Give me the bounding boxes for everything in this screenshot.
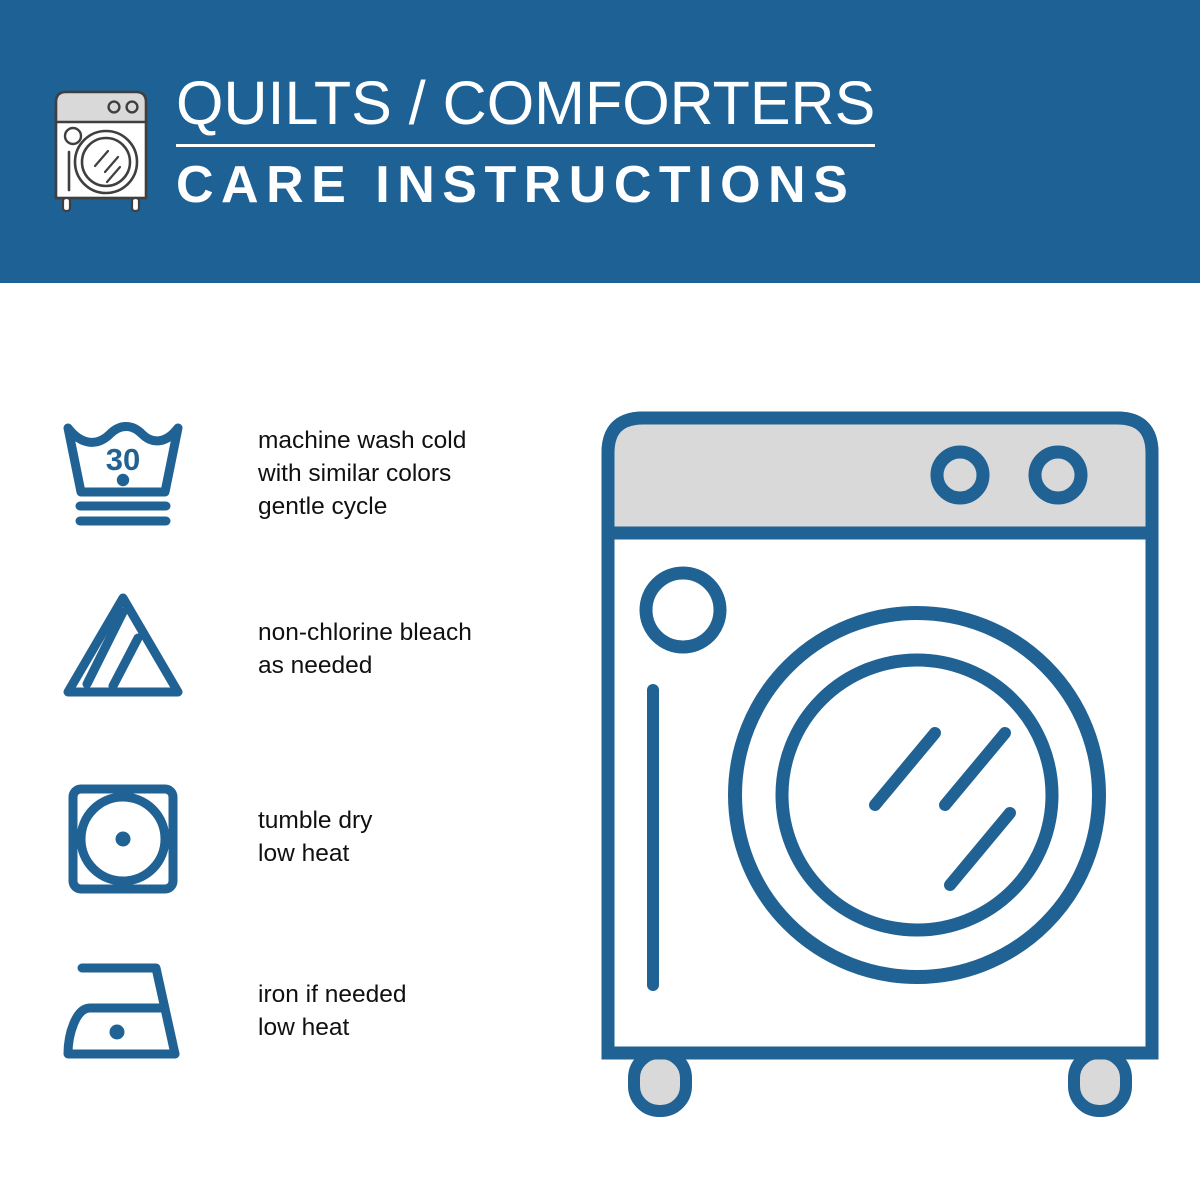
dry-heat-dot-icon [116, 832, 131, 847]
leg-left [634, 1053, 686, 1111]
header-title-group: QUILTS / COMFORTERS CARE INSTRUCTIONS [176, 72, 875, 212]
wash-dot-icon [117, 474, 129, 486]
leg-right [1074, 1053, 1126, 1111]
title-divider [176, 144, 875, 147]
care-row-tumble-dry: tumble dry low heat [60, 780, 372, 898]
non-chlorine-bleach-triangle-icon [60, 588, 190, 706]
top-control-panel [608, 418, 1152, 533]
care-text-machine-wash: machine wash cold with similar colors ge… [258, 416, 466, 523]
care-text-bleach: non-chlorine bleach as needed [258, 588, 472, 682]
header-content: QUILTS / COMFORTERS CARE INSTRUCTIONS [48, 72, 875, 214]
washing-machine-illustration [590, 395, 1170, 1125]
care-row-iron: iron if needed low heat [60, 950, 406, 1068]
page-subtitle: CARE INSTRUCTIONS [176, 158, 855, 212]
machine-wash-tub-icon: 30 [60, 416, 190, 534]
header-banner: QUILTS / COMFORTERS CARE INSTRUCTIONS [0, 0, 1200, 283]
iron-heat-dot-icon [110, 1025, 125, 1040]
page-title: QUILTS / COMFORTERS [176, 72, 875, 134]
wash-temperature-value: 30 [106, 442, 140, 477]
care-instructions-list: 30 machine wash cold with similar colors… [0, 283, 560, 1200]
iron-icon [60, 950, 190, 1068]
care-row-machine-wash: 30 machine wash cold with similar colors… [60, 416, 466, 534]
washing-machine-icon [48, 78, 154, 214]
care-row-bleach: non-chlorine bleach as needed [60, 588, 472, 706]
tumble-dry-icon [60, 780, 190, 898]
care-text-tumble-dry: tumble dry low heat [258, 780, 372, 870]
care-text-iron: iron if needed low heat [258, 950, 406, 1044]
